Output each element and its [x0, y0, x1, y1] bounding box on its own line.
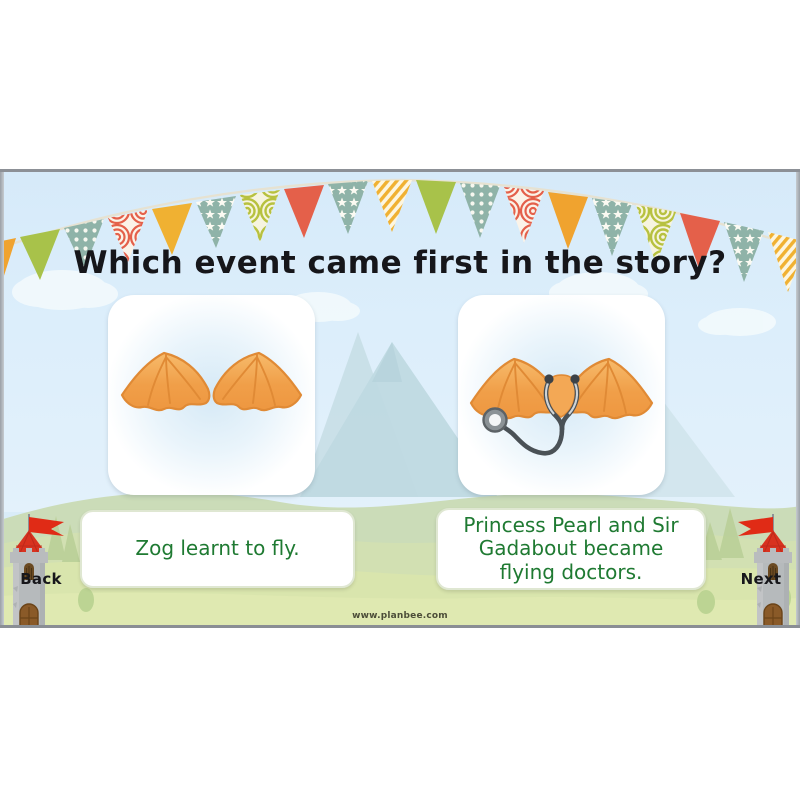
slide-page: Which event came first in the story? [0, 0, 800, 800]
answer-option-left-text: Zog learnt to fly. [135, 537, 299, 560]
dragon-wings-stethoscope-image[interactable] [458, 295, 665, 495]
back-button-label: Back [2, 570, 80, 588]
page-title: Which event came first in the story? [0, 245, 800, 281]
back-button[interactable]: Back [2, 508, 80, 628]
next-button[interactable]: Next [722, 508, 800, 628]
dragon-wings-icon [108, 295, 315, 495]
answer-option-right-text: Princess Pearl and Sir Gadabout became f… [448, 514, 694, 584]
next-button-label: Next [722, 570, 800, 588]
answer-option-left[interactable]: Zog learnt to fly. [80, 510, 355, 588]
castle-tower-icon [722, 508, 800, 628]
slide-frame: Which event came first in the story? [0, 169, 800, 628]
planbee-watermark: www.planbee.com [0, 611, 800, 621]
answer-option-right[interactable]: Princess Pearl and Sir Gadabout became f… [436, 508, 706, 590]
dragon-wings-image[interactable] [108, 295, 315, 495]
castle-tower-icon [2, 508, 80, 628]
dragon-wings-stethoscope-icon [458, 295, 665, 495]
